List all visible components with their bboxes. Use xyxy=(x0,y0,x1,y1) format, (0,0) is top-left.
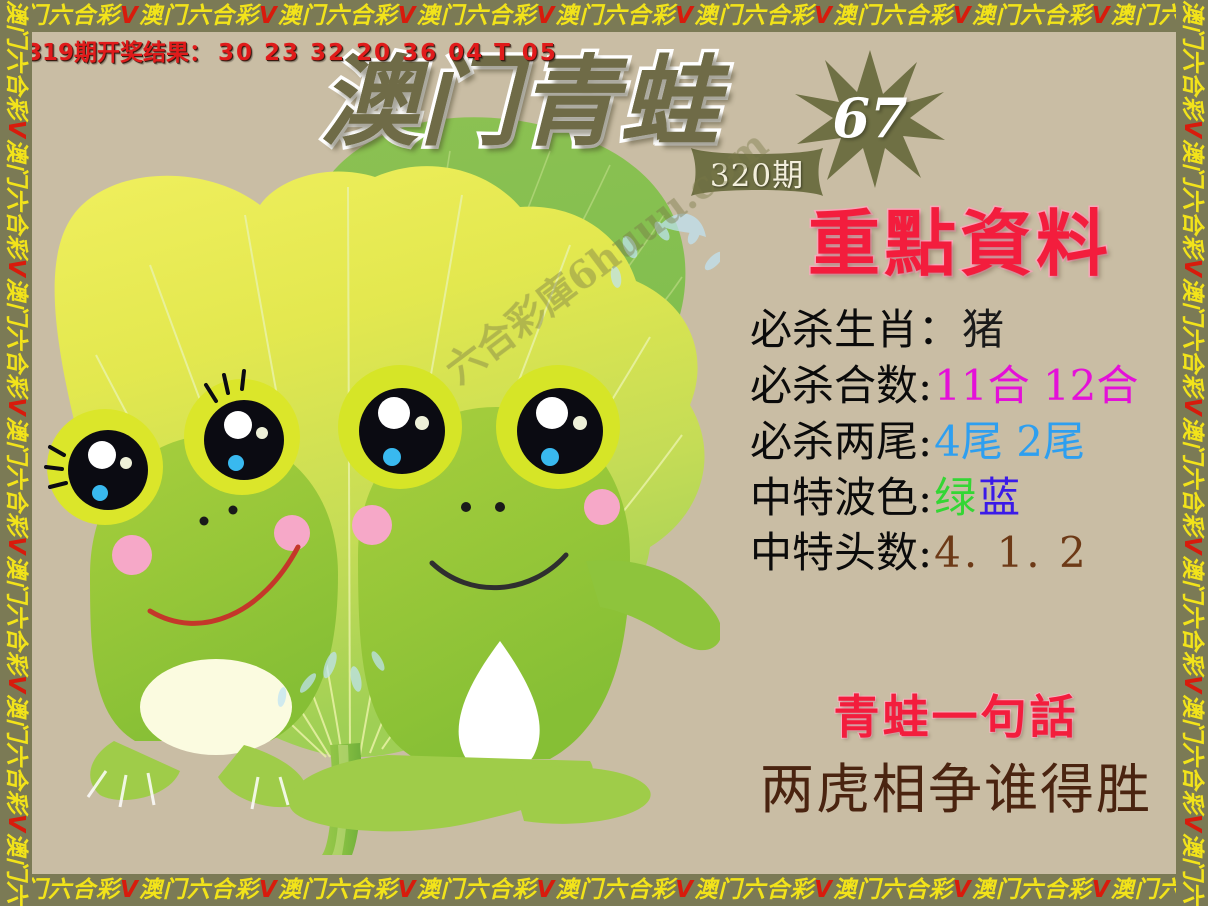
border-left-text: 澳门六合彩V澳门六合彩V澳门六合彩V澳门六合彩V澳门六合彩V澳门六合彩V澳门六合… xyxy=(3,0,29,906)
row-kill-sum-value: 11合 12合 xyxy=(934,361,1138,410)
slogan-heading: 青蛙一句話 xyxy=(726,694,1186,740)
previous-draw-results: 319期开奖结果：30 23 32 20 36 04 T 05 xyxy=(26,33,558,67)
row-kill-zodiac: 必杀生肖：猪 xyxy=(750,302,1186,358)
row-wave-color-value-blue: 蓝 xyxy=(978,473,1020,522)
row-kill-tails: 必杀两尾:4尾 2尾 xyxy=(750,414,1186,470)
row-kill-zodiac-key: 必杀生肖： xyxy=(750,305,960,354)
border-top: 澳门六合彩V澳门六合彩V澳门六合彩V澳门六合彩V澳门六合彩V澳门六合彩V澳门六合… xyxy=(0,0,1208,32)
row-kill-zodiac-value: 猪 xyxy=(962,305,1004,354)
row-wave-color-key: 中特波色: xyxy=(750,473,932,522)
row-kill-tails-value: 4尾 2尾 xyxy=(934,417,1085,466)
border-right-text: 澳门六合彩V澳门六合彩V澳门六合彩V澳门六合彩V澳门六合彩V澳门六合彩V澳门六合… xyxy=(1179,0,1205,906)
border-left: 澳门六合彩V澳门六合彩V澳门六合彩V澳门六合彩V澳门六合彩V澳门六合彩V澳门六合… xyxy=(0,0,32,906)
panel-heading: 重點資料 xyxy=(734,208,1186,280)
row-head-numbers: 中特头数:4. 1. 2 xyxy=(750,525,1186,581)
border-bottom-text: 澳门六合彩V澳门六合彩V澳门六合彩V澳门六合彩V澳门六合彩V澳门六合彩V澳门六合… xyxy=(0,877,1208,903)
row-kill-tails-key: 必杀两尾: xyxy=(750,417,932,466)
row-head-numbers-value: 4. 1. 2 xyxy=(934,528,1089,577)
page-title-overlay: 澳门青蛙 xyxy=(320,52,720,155)
slogan-text: 两虎相争谁得胜 xyxy=(726,760,1186,819)
results-numbers: 30 23 32 20 36 04 T 05 xyxy=(218,40,558,66)
row-kill-sum: 必杀合数:11合 12合 xyxy=(750,358,1186,414)
results-label: 319期开奖结果： xyxy=(26,40,212,66)
poster-title-block: 澳门青蛙 澳门青蛙 xyxy=(320,52,720,155)
slogan-block: 青蛙一句話 两虎相争谁得胜 xyxy=(726,694,1186,819)
key-info-panel: 重點資料 必杀生肖：猪 必杀合数:11合 12合 必杀两尾:4尾 2尾 中特波色… xyxy=(726,208,1186,581)
row-head-numbers-key: 中特头数: xyxy=(750,528,932,577)
row-wave-color-value-green: 绿 xyxy=(934,473,976,522)
border-right: 澳门六合彩V澳门六合彩V澳门六合彩V澳门六合彩V澳门六合彩V澳门六合彩V澳门六合… xyxy=(1176,0,1208,906)
border-top-text: 澳门六合彩V澳门六合彩V澳门六合彩V澳门六合彩V澳门六合彩V澳门六合彩V澳门六合… xyxy=(0,3,1208,29)
lottery-poster: 319期开奖结果：30 23 32 20 36 04 T 05 澳门青蛙 澳门青… xyxy=(0,0,1208,906)
row-wave-color: 中特波色:绿蓝 xyxy=(750,470,1186,526)
key-info-rows: 必杀生肖：猪 必杀合数:11合 12合 必杀两尾:4尾 2尾 中特波色:绿蓝 中… xyxy=(726,302,1186,581)
border-bottom: 澳门六合彩V澳门六合彩V澳门六合彩V澳门六合彩V澳门六合彩V澳门六合彩V澳门六合… xyxy=(0,874,1208,906)
frog-lotus-illustration xyxy=(30,55,720,855)
row-kill-sum-key: 必杀合数: xyxy=(750,361,932,410)
